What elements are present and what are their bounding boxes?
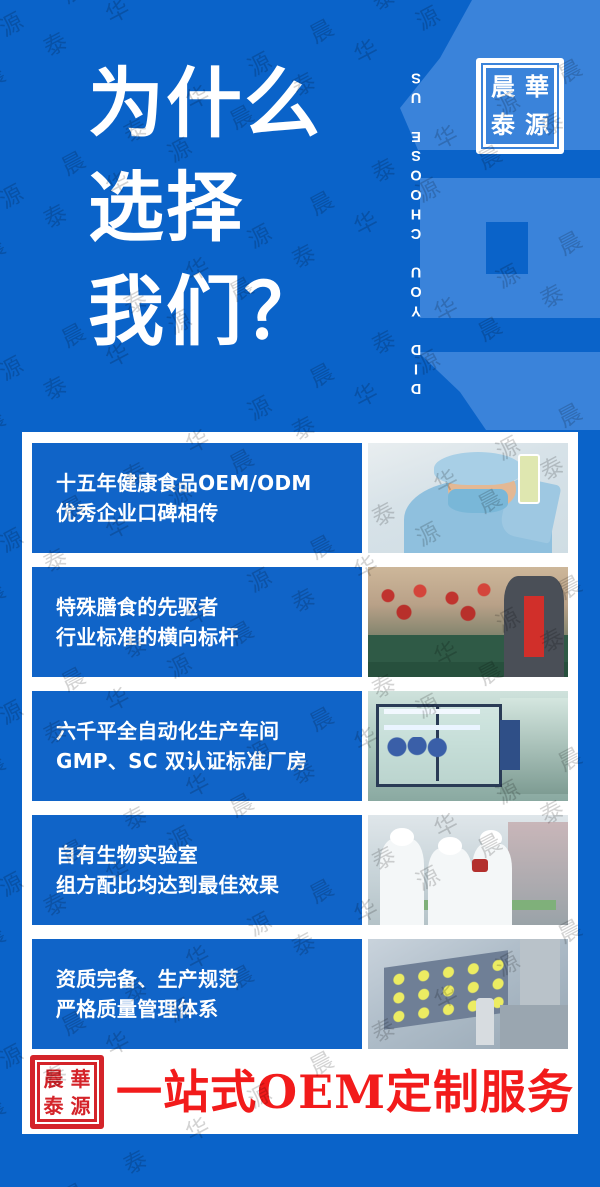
feature-card-text: 特殊膳食的先驱者 行业标准的横向标杆 <box>32 567 362 677</box>
feature-line-2: GMP、SC 双认证标准厂房 <box>56 746 362 776</box>
feature-line-1: 资质完备、生产规范 <box>56 964 362 994</box>
seal-inner-grid: 晨 華 泰 源 <box>37 1062 97 1122</box>
footer-slogan: 一站式OEM定制服务 <box>116 1069 574 1115</box>
feature-photo <box>368 815 568 925</box>
seal-inner-grid: 晨 華 泰 源 <box>483 65 557 147</box>
feature-line-2: 组方配比均达到最佳效果 <box>56 870 362 900</box>
seal-char-4: 源 <box>67 1092 94 1119</box>
feature-card[interactable]: 特殊膳食的先驱者 行业标准的横向标杆 <box>32 567 568 677</box>
feature-card-list: 十五年健康食品OEM/ODM 优秀企业口碑相传 特殊膳食的先驱者 行业标准的横向… <box>32 443 568 1063</box>
vertical-english-caption: DID YOU CHOOSE US <box>408 26 424 396</box>
feature-photo <box>368 567 568 677</box>
brand-seal-footer: 晨 華 泰 源 <box>30 1055 104 1129</box>
feature-photo <box>368 939 568 1049</box>
cleanroom-corridor-photo <box>368 691 568 801</box>
lab-technician-photo <box>368 443 568 553</box>
page-title-line-2: 选择 <box>88 156 322 260</box>
seal-char-2: 華 <box>67 1065 94 1092</box>
feature-line-2: 行业标准的横向标杆 <box>56 622 362 652</box>
seal-char-3: 泰 <box>486 106 520 144</box>
feature-card[interactable]: 十五年健康食品OEM/ODM 优秀企业口碑相传 <box>32 443 568 553</box>
feature-card-text: 资质完备、生产规范 严格质量管理体系 <box>32 939 362 1049</box>
blister-packing-photo <box>368 939 568 1049</box>
seal-char-1: 晨 <box>40 1065 67 1092</box>
footer-bar: 晨 華 泰 源 一站式OEM定制服务 <box>22 1050 558 1134</box>
page-title-line-3: 我们？ <box>88 260 322 364</box>
feature-line-1: 特殊膳食的先驱者 <box>56 592 362 622</box>
conference-audience-photo <box>368 567 568 677</box>
feature-line-1: 十五年健康食品OEM/ODM <box>56 468 362 498</box>
page-title: 为什么 选择 我们？ <box>88 52 322 364</box>
feature-line-1: 六千平全自动化生产车间 <box>56 716 362 746</box>
feature-card-text: 十五年健康食品OEM/ODM 优秀企业口碑相传 <box>32 443 362 553</box>
feature-photo <box>368 443 568 553</box>
feature-line-2: 严格质量管理体系 <box>56 994 362 1024</box>
production-line-photo <box>368 815 568 925</box>
seal-char-4: 源 <box>520 106 554 144</box>
feature-line-1: 自有生物实验室 <box>56 840 362 870</box>
page-title-line-1: 为什么 <box>88 52 322 156</box>
seal-char-3: 泰 <box>40 1092 67 1119</box>
feature-card[interactable]: 资质完备、生产规范 严格质量管理体系 <box>32 939 568 1049</box>
features-frame: 十五年健康食品OEM/ODM 优秀企业口碑相传 特殊膳食的先驱者 行业标准的横向… <box>22 432 578 1134</box>
feature-card-text: 六千平全自动化生产车间 GMP、SC 双认证标准厂房 <box>32 691 362 801</box>
hero-section: 为什么 选择 我们？ DID YOU CHOOSE US 晨 華 泰 源 <box>0 0 600 432</box>
brand-seal-hero: 晨 華 泰 源 <box>476 58 564 154</box>
feature-card[interactable]: 自有生物实验室 组方配比均达到最佳效果 <box>32 815 568 925</box>
feature-card[interactable]: 六千平全自动化生产车间 GMP、SC 双认证标准厂房 <box>32 691 568 801</box>
seal-char-2: 華 <box>520 68 554 106</box>
poster-root: 为什么 选择 我们？ DID YOU CHOOSE US 晨 華 泰 源 十五年… <box>0 0 600 1187</box>
seal-char-1: 晨 <box>486 68 520 106</box>
feature-line-2: 优秀企业口碑相传 <box>56 498 362 528</box>
feature-card-text: 自有生物实验室 组方配比均达到最佳效果 <box>32 815 362 925</box>
feature-photo <box>368 691 568 801</box>
